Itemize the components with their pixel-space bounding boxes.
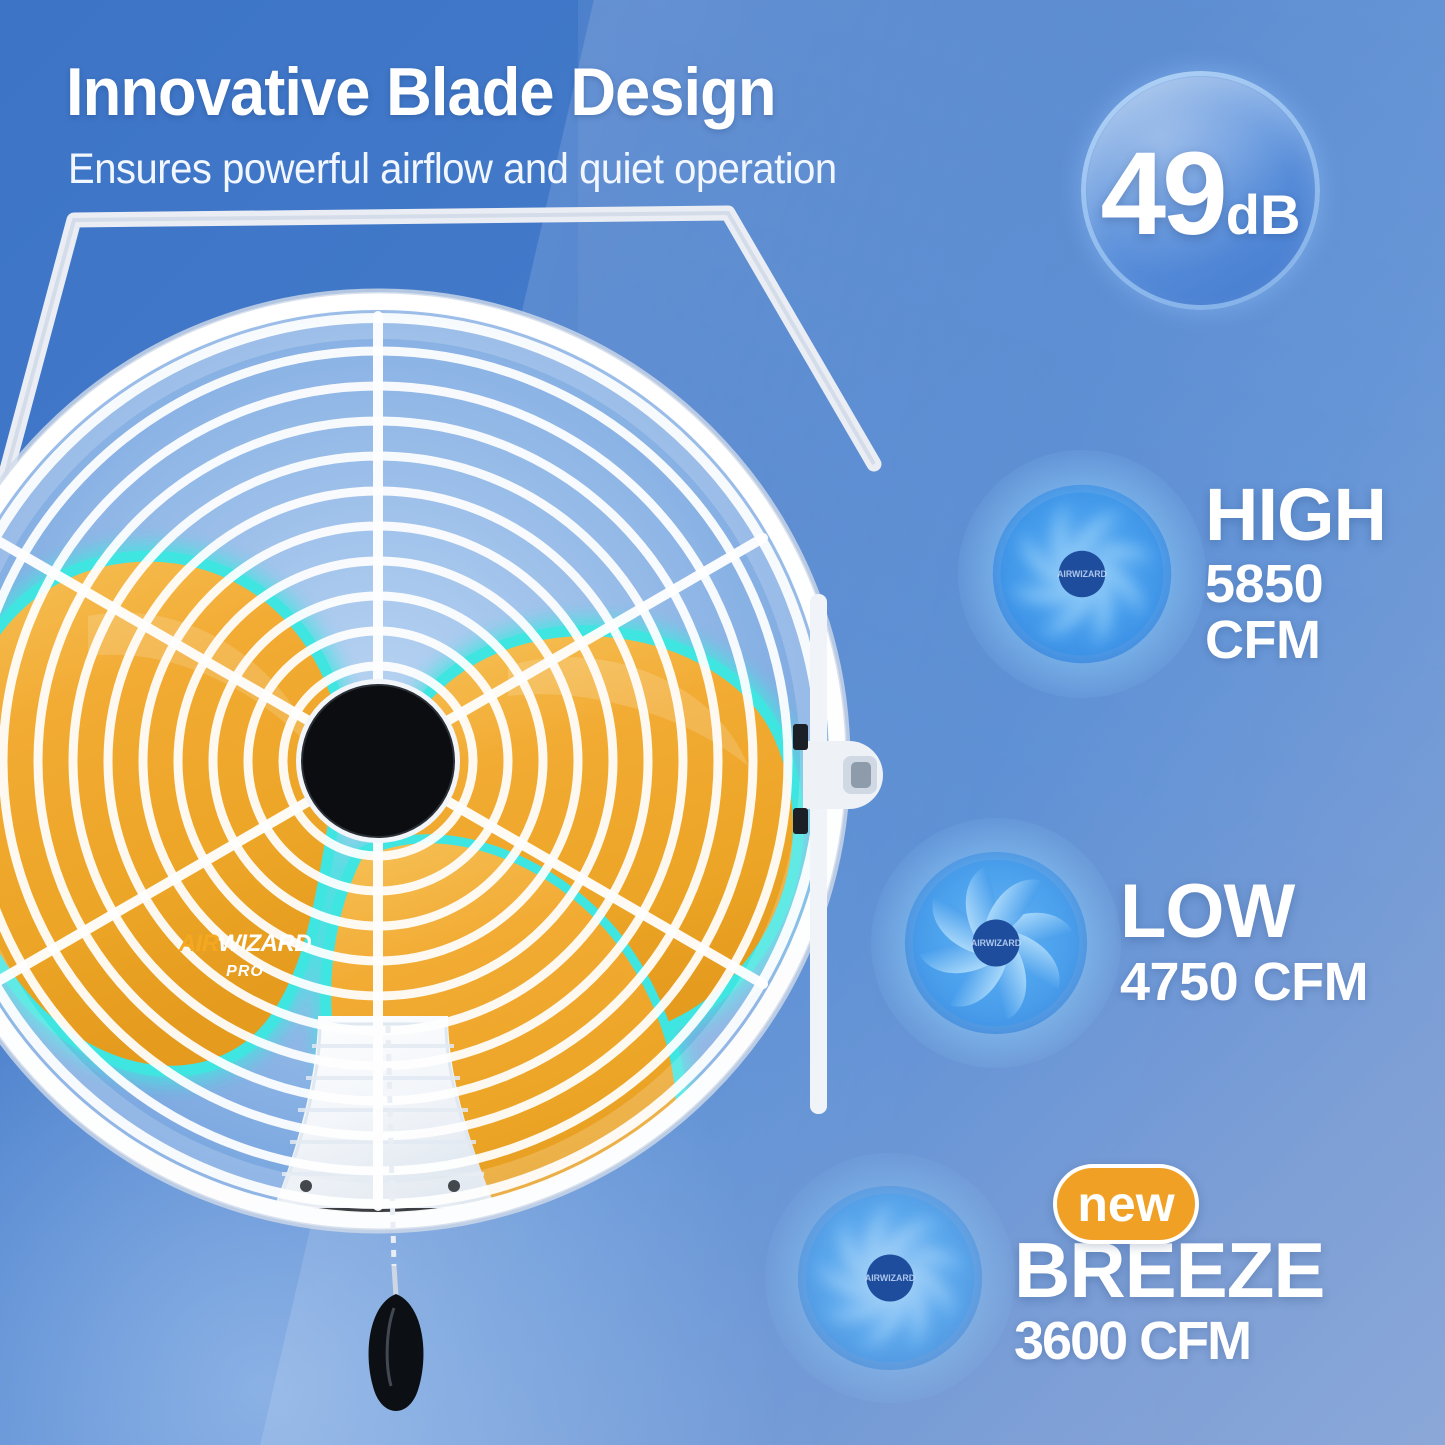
noise-level-badge: 49 dB bbox=[1081, 71, 1320, 310]
speed-cfm-high: 5850 CFM bbox=[1205, 556, 1445, 669]
page-title: Innovative Blade Design bbox=[66, 58, 776, 126]
fan-spinning-icon: AIRWIZARD bbox=[985, 477, 1179, 671]
speed-row-high: AIRWIZARD HIGH 5850 CFM bbox=[985, 477, 1445, 671]
speed-cfm-low: 4750 CFM bbox=[1120, 954, 1368, 1011]
wall-mount-fan-image: AIRWIZARD PRO bbox=[0, 196, 908, 1376]
speed-row-low: AIRWIZARD LOW 4750 CFM bbox=[898, 845, 1368, 1041]
fan-hub bbox=[296, 679, 460, 843]
noise-level-value: 49 bbox=[1101, 144, 1224, 244]
svg-text:AIRWIZARD: AIRWIZARD bbox=[1057, 569, 1107, 579]
product-feature-banner: Innovative Blade Design Ensures powerful… bbox=[0, 0, 1445, 1445]
fan-spinning-icon: AIRWIZARD bbox=[898, 845, 1094, 1041]
speed-label-low: LOW bbox=[1120, 875, 1368, 949]
page-subtitle: Ensures powerful airflow and quiet opera… bbox=[68, 148, 837, 191]
noise-level-unit: dB bbox=[1226, 187, 1301, 243]
new-badge: new bbox=[1053, 1164, 1199, 1244]
fan-spinning-icon: AIRWIZARD bbox=[792, 1180, 988, 1376]
svg-text:AIRWIZARD: AIRWIZARD bbox=[971, 938, 1021, 948]
speed-label-breeze: BREEZE bbox=[1014, 1232, 1324, 1308]
speed-label-high: HIGH bbox=[1205, 479, 1445, 552]
speed-cfm-breeze: 3600 CFM bbox=[1014, 1313, 1324, 1370]
svg-text:AIRWIZARD: AIRWIZARD bbox=[865, 1273, 915, 1283]
